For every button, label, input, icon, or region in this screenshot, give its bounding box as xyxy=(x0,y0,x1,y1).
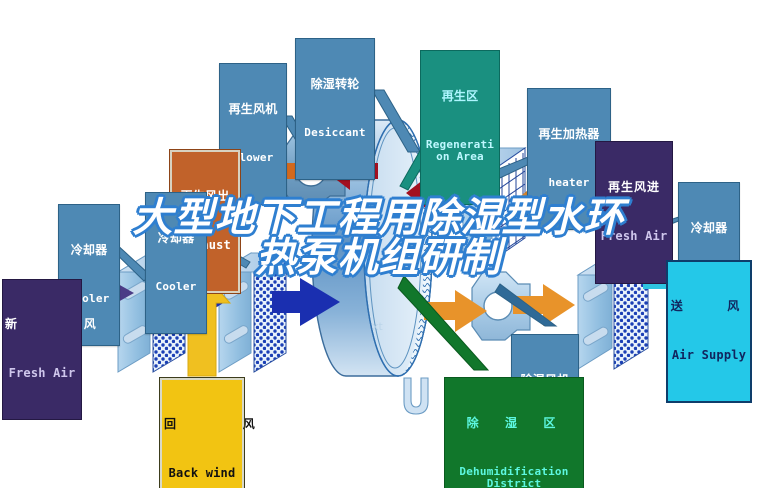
svg-text:xt: xt xyxy=(372,320,384,333)
drain-pan xyxy=(404,378,428,414)
dehumidification-system-diagram: xt xyxy=(0,0,757,488)
label-regeneration-fresh-air-in-cn: 再生风进 xyxy=(598,181,670,194)
label-desiccant-wheel-cn: 除湿转轮 xyxy=(298,78,372,91)
label-back-wind-cn: 回 风 xyxy=(164,418,240,431)
label-air-supply[interactable]: 送 风 Air Supply xyxy=(666,260,752,403)
label-desiccant-wheel-en: Desiccant xyxy=(298,127,372,139)
label-cooler-middle[interactable]: 冷却器 Cooler xyxy=(145,192,207,334)
label-regeneration-heater-cn: 再生加热器 xyxy=(530,128,608,141)
label-fresh-air-in-en: Fresh Air xyxy=(5,367,79,380)
label-air-supply-cn: 送 风 xyxy=(670,300,748,313)
label-dehumidification-district-en: Dehumidification District xyxy=(447,466,581,488)
label-regeneration-area[interactable]: 再生区 Regenerati on Area xyxy=(420,50,500,205)
label-cooler-middle-en: Cooler xyxy=(148,281,204,293)
label-regeneration-blower-cn: 再生风机 xyxy=(222,103,284,116)
label-fresh-air-in[interactable]: 新 风 Fresh Air xyxy=(2,279,82,420)
label-cooler-left-cn: 冷却器 xyxy=(61,244,117,257)
label-dehumidification-district-cn: 除 湿 区 xyxy=(447,417,581,430)
label-fresh-air-in-cn: 新 风 xyxy=(5,318,79,331)
label-cooler-right-cn: 冷却器 xyxy=(681,222,737,235)
label-back-wind[interactable]: 回 风 Back wind xyxy=(160,378,244,488)
label-regeneration-fresh-air-in-en: Fresh Air xyxy=(598,230,670,243)
label-regeneration-fresh-air-in[interactable]: 再生风进 Fresh Air xyxy=(595,141,673,284)
label-regeneration-area-cn: 再生区 xyxy=(423,90,497,103)
label-regeneration-area-en: Regenerati on Area xyxy=(423,139,497,164)
label-cooler-middle-cn: 冷却器 xyxy=(148,232,204,245)
label-desiccant-wheel[interactable]: 除湿转轮 Desiccant xyxy=(295,38,375,180)
label-air-supply-en: Air Supply xyxy=(670,349,748,362)
label-back-wind-en: Back wind xyxy=(164,467,240,480)
label-dehumidification-district[interactable]: 除 湿 区 Dehumidification District xyxy=(444,377,584,488)
